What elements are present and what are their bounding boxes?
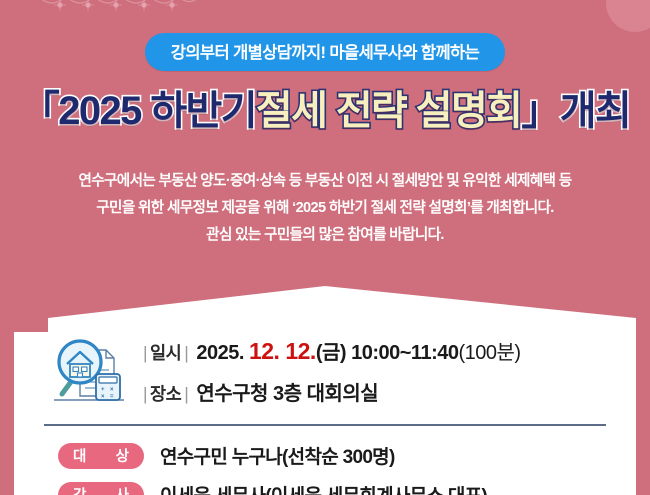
place-value: 연수구청 3층 대회의실 [196,383,378,405]
date-year: 2025. [196,342,249,364]
lecturer-tag-char-1: 강 [73,484,86,495]
audience-tag-char-2: 상 [116,445,129,466]
title-open-quote: 「 [20,78,58,136]
body-paragraph: 연수구에서는 부동산 양도·증여·상속 등 부동산 이전 시 절세방안 및 유익… [0,168,650,249]
poster-root: 강의부터 개별상담까지! 마을세무사와 함께하는 「 2025 하반기 절세 전… [0,0,650,495]
svg-text:+: + [101,387,105,393]
date-bar-right: | [181,343,191,363]
info-lines: |일시| 2025. 12. 12.(금) 10:00~11:40(100분) … [140,332,610,406]
magnifier-house-calculator-icon: +× ×= [40,334,126,410]
body-line-3: 관심 있는 구민들의 많은 참여를 바랍니다. [0,222,650,249]
banner-row: 강의부터 개별상담까지! 마을세무사와 함께하는 [0,33,650,71]
title-part-one: 2025 하반기 [58,78,256,136]
detail-rows: 대 상 연수구민 누구나(선착순 300명) 강 사 이세웅 세무사(이세웅 세… [40,442,610,495]
list-item: 강 사 이세웅 세무사(이세웅 세무회계사무소 대표) [58,481,610,495]
date-line: |일시| 2025. 12. 12.(금) 10:00~11:40(100분) [140,336,610,365]
lecturer-value: 이세웅 세무사(이세웅 세무회계사무소 대표) [160,481,487,495]
list-item: 대 상 연수구민 누구나(선착순 300명) [58,442,610,469]
string-lights-garland-icon [38,0,198,18]
card-divider [44,424,606,426]
date-rest: (금) 10:00~11:40 [316,342,459,364]
info-card: +× ×= |일시| 2025. 12. 12.(금) 10:00~11:40(… [14,286,636,495]
svg-text:×: × [101,394,105,400]
place-bar-left: | [140,384,150,404]
place-label: 장소 [150,384,181,404]
date-month-day: 12. 12. [249,338,316,364]
date-bar-left: | [140,343,150,363]
audience-tag-char-1: 대 [73,445,86,466]
body-line-1: 연수구에서는 부동산 양도·증여·상속 등 부동산 이전 시 절세방안 및 유익… [0,168,650,195]
date-duration: (100분) [458,342,520,364]
corner-circle-decoration [606,0,650,32]
page-title: 「 2025 하반기 절세 전략 설명회 」 개최 [0,78,650,136]
body-line-2: 구민을 위한 세무정보 제공을 위해 ‘2025 하반기 절세 전략 설명회’를… [0,195,650,222]
audience-value: 연수구민 누구나(선착순 300명) [160,442,395,469]
date-label: 일시 [150,343,181,363]
info-top-block: +× ×= |일시| 2025. 12. 12.(금) 10:00~11:40(… [40,330,610,410]
place-bar-right: | [181,384,191,404]
place-line: |장소| 연수구청 3층 대회의실 [140,377,610,406]
title-part-two: 개최 [560,78,630,136]
audience-tag: 대 상 [58,443,144,469]
lecturer-tag-char-2: 사 [116,484,129,495]
subtitle-banner: 강의부터 개별상담까지! 마을세무사와 함께하는 [145,33,505,71]
svg-text:×: × [110,387,114,393]
title-close-quote: 」 [521,78,559,136]
lecturer-tag: 강 사 [58,482,144,495]
title-highlight: 절세 전략 설명회 [256,78,521,136]
svg-text:=: = [110,394,114,400]
